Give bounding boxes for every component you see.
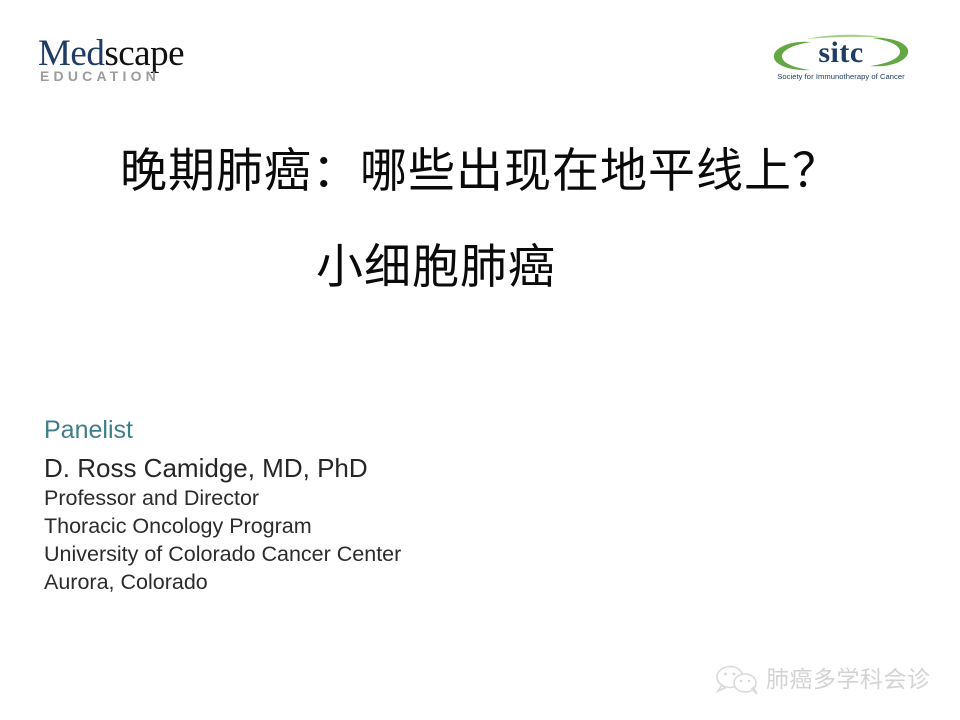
wechat-bubbles-icon <box>714 662 760 698</box>
presentation-slide: Medscape EDUCATION sitc Society for Immu… <box>0 0 960 720</box>
panelist-affiliation-line: University of Colorado Cancer Center <box>44 540 564 568</box>
panelist-heading: Panelist <box>44 415 564 445</box>
panelist-affiliation-line: Thoracic Oncology Program <box>44 512 564 540</box>
slide-title: 晚期肺癌：哪些出现在地平线上？ 小细胞肺癌 <box>0 140 960 300</box>
slide-title-line-2: 小细胞肺癌 <box>0 236 960 300</box>
wechat-watermark: 肺癌多学科会诊 <box>714 658 938 702</box>
medscape-education-logo: Medscape EDUCATION <box>38 34 268 96</box>
slide-title-line-1: 晚期肺癌：哪些出现在地平线上？ <box>0 140 960 204</box>
sitc-acronym: sitc <box>766 36 916 70</box>
panelist-name: D. Ross Camidge, MD, PhD <box>44 452 564 484</box>
panelist-affiliation-line: Professor and Director <box>44 484 564 512</box>
panelist-block: Panelist D. Ross Camidge, MD, PhD Profes… <box>44 415 564 596</box>
sitc-tagline: Society for Immunotherapy of Cancer <box>766 72 916 81</box>
sitc-logo: sitc Society for Immunotherapy of Cancer <box>766 32 916 94</box>
watermark-text: 肺癌多学科会诊 <box>766 666 931 694</box>
medscape-education-subtitle: EDUCATION <box>40 68 160 84</box>
panelist-affiliation-line: Aurora, Colorado <box>44 568 564 596</box>
